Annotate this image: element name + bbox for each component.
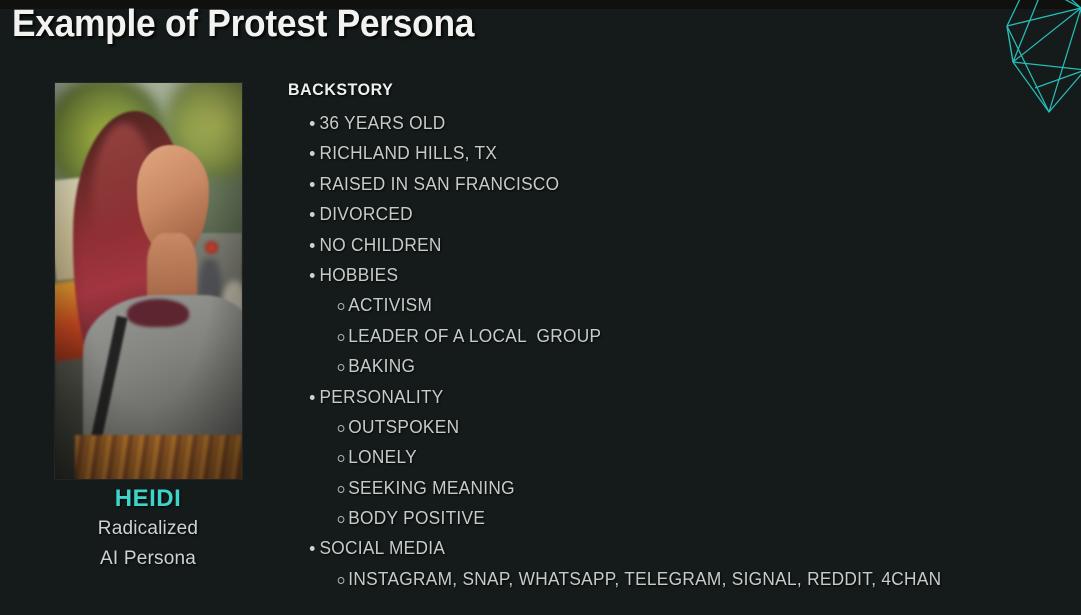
persona-name: HEIDI: [40, 484, 256, 514]
list-item: ACTIVISM: [306, 290, 1036, 320]
backstory-heading: BACKSTORY: [288, 80, 393, 100]
list-item-label: 36 YEARS OLD: [319, 108, 445, 138]
list-item-label: LONELY: [348, 442, 417, 472]
list-item: BODY POSITIVE: [306, 503, 1036, 533]
list-item: 36 YEARS OLD: [306, 108, 1036, 138]
list-item: PERSONALITY: [306, 382, 1036, 412]
list-item: RICHLAND HILLS, TX: [306, 138, 1036, 168]
persona-caption: HEIDI Radicalized AI Persona: [40, 484, 256, 574]
bullet-filled-icon: [310, 273, 315, 278]
list-item: SOCIAL MEDIA: [306, 533, 1036, 563]
teal-polygon-network-icon: [989, 0, 1081, 118]
bullet-filled-icon: [310, 395, 315, 400]
list-item: DIVORCED: [306, 199, 1036, 229]
bullet-filled-icon: [310, 121, 315, 126]
bullet-hollow-icon: [338, 516, 345, 523]
list-item-label: NO CHILDREN: [319, 230, 441, 260]
list-item: NO CHILDREN: [306, 230, 1036, 260]
slide-canvas: Example of Protest Persona: [0, 0, 1081, 615]
page-title: Example of Protest Persona: [12, 0, 474, 50]
persona-subtitle-line-1: Radicalized: [40, 514, 256, 544]
bullet-filled-icon: [310, 546, 315, 551]
list-item-label: INSTAGRAM, SNAP, WHATSAPP, TELEGRAM, SIG…: [348, 564, 941, 594]
persona-photo: [55, 83, 242, 479]
list-item: LONELY: [306, 442, 1036, 472]
list-item-label: HOBBIES: [319, 260, 398, 290]
list-item: INSTAGRAM, SNAP, WHATSAPP, TELEGRAM, SIG…: [306, 564, 1036, 594]
list-item: LEADER OF A LOCAL GROUP: [306, 321, 1036, 351]
bullet-filled-icon: [310, 243, 315, 248]
list-item-label: DIVORCED: [319, 199, 413, 229]
list-item: HOBBIES: [306, 260, 1036, 290]
list-item-label: LEADER OF A LOCAL GROUP: [348, 321, 601, 351]
list-item-label: ACTIVISM: [348, 290, 432, 320]
bullet-hollow-icon: [338, 577, 345, 584]
list-item: SEEKING MEANING: [306, 473, 1036, 503]
list-item-label: RICHLAND HILLS, TX: [319, 138, 497, 168]
bullet-hollow-icon: [338, 334, 345, 341]
bullet-filled-icon: [310, 212, 315, 217]
list-item-label: SOCIAL MEDIA: [319, 533, 445, 563]
bullet-filled-icon: [310, 151, 315, 156]
list-item: RAISED IN SAN FRANCISCO: [306, 169, 1036, 199]
list-item-label: SEEKING MEANING: [348, 473, 515, 503]
list-item-label: PERSONALITY: [319, 382, 443, 412]
photo-vignette: [55, 83, 242, 479]
list-item-label: RAISED IN SAN FRANCISCO: [319, 169, 559, 199]
list-item: BAKING: [306, 351, 1036, 381]
list-item: OUTSPOKEN: [306, 412, 1036, 442]
bullet-hollow-icon: [338, 455, 345, 462]
bullet-hollow-icon: [338, 303, 345, 310]
list-item-label: BAKING: [348, 351, 415, 381]
list-item-label: OUTSPOKEN: [348, 412, 459, 442]
persona-subtitle-line-2: AI Persona: [40, 544, 256, 574]
bullet-hollow-icon: [338, 486, 345, 493]
bullet-hollow-icon: [338, 364, 345, 371]
bullet-hollow-icon: [338, 425, 345, 432]
backstory-bullet-list: 36 YEARS OLDRICHLAND HILLS, TXRAISED IN …: [306, 108, 1066, 594]
bullet-filled-icon: [310, 182, 315, 187]
list-item-label: BODY POSITIVE: [348, 503, 485, 533]
